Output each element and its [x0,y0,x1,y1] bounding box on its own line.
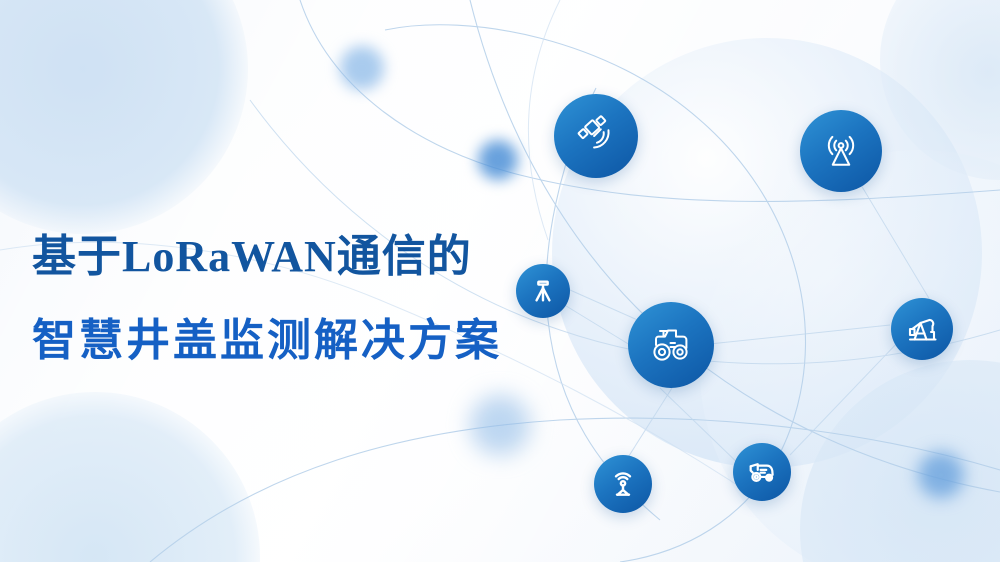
node-tractor[interactable] [628,302,714,388]
title-line-secondary: 智慧井盖监测解决方案 [32,312,592,370]
accent-dot-lower-right [918,452,964,498]
node-sensor[interactable] [594,455,652,513]
accent-dot-upper [340,46,384,90]
satellite-icon [573,113,619,159]
title-line-primary: 基于LoRaWAN通信的 [32,228,592,286]
node-satellite[interactable] [554,94,638,178]
oil-pump-icon [904,311,940,347]
tripod-icon [529,277,557,305]
node-radio-tower[interactable] [800,110,882,192]
node-tripod[interactable] [516,264,570,318]
accent-dot-lower-left [470,395,530,455]
node-harvester[interactable] [733,443,791,501]
harvester-icon [745,455,779,489]
tractor-icon [647,321,695,369]
radio-tower-icon [819,129,863,173]
presentation-slide: 基于LoRaWAN通信的 智慧井盖监测解决方案 [0,0,1000,562]
slide-title: 基于LoRaWAN通信的 智慧井盖监测解决方案 [32,228,592,370]
accent-dot-mid [478,140,518,180]
node-oil-pump[interactable] [891,298,953,360]
sensor-node-icon [607,468,639,500]
